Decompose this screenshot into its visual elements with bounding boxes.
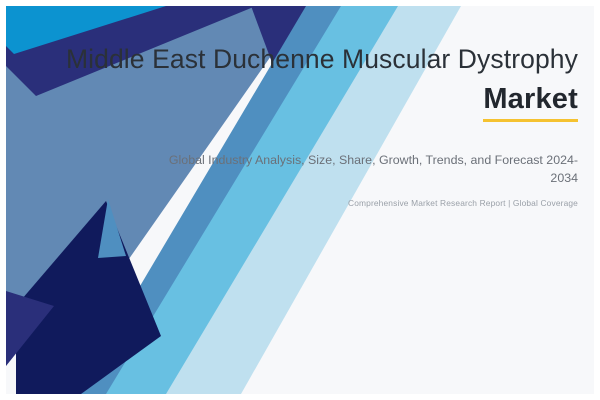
market-heading: Market [483,84,578,116]
report-tagline: Comprehensive Market Research Report | G… [158,198,578,208]
market-heading-group: Market [483,84,578,122]
report-subtitle: Global Industry Analysis, Size, Share, G… [158,152,578,188]
market-heading-underline [483,119,578,122]
report-cover: Middle East Duchenne Muscular Dystrophy … [0,0,600,400]
page-title: Middle East Duchenne Muscular Dystrophy [30,44,578,74]
cover-text-layer: Middle East Duchenne Muscular Dystrophy … [0,0,600,400]
